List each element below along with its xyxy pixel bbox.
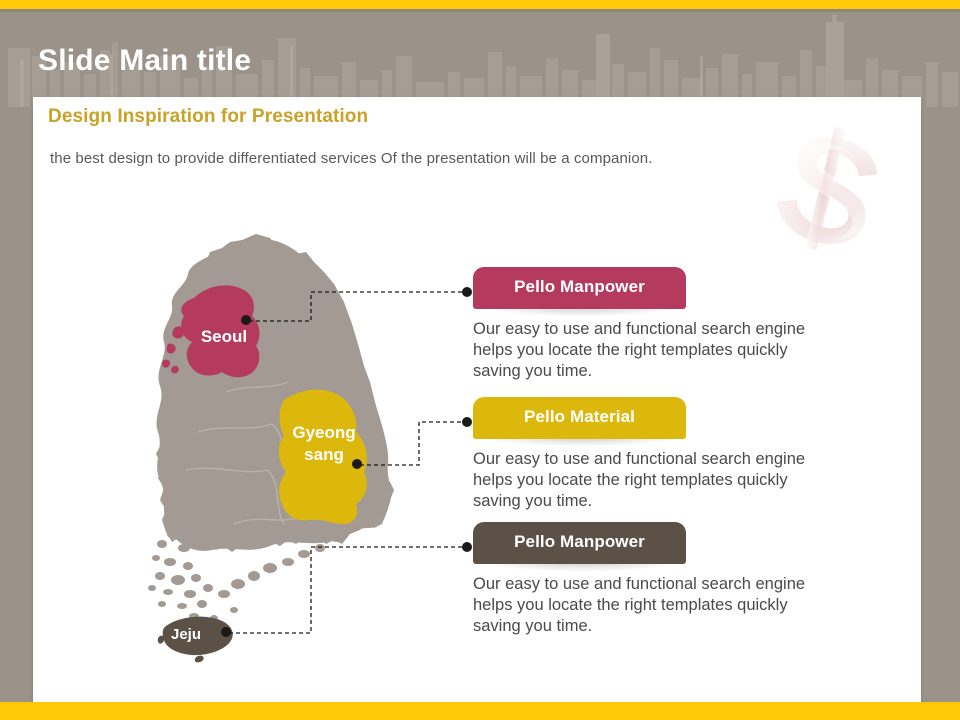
bottom-accent-bar [0, 702, 960, 720]
map-label-gyeongsang-line1: Gyeong [292, 423, 355, 442]
body-line-3c: saving you time. [473, 616, 858, 637]
south-korea-map: Seoul Gyeong sang Jeju [138, 232, 428, 672]
body-line-2c: saving you time. [473, 491, 858, 512]
body-line-3b: helps you locate the right templates qui… [473, 595, 858, 616]
map-label-jeju: Jeju [171, 626, 201, 643]
top-accent-bar-shadow [0, 9, 960, 12]
slide-root: Slide Main title Design Inspiration for … [0, 0, 960, 720]
top-accent-bar [0, 0, 960, 9]
tag-wrapper-2: Pello Material [473, 397, 858, 445]
map-label-seoul: Seoul [201, 327, 247, 346]
body-text-3: Our easy to use and functional search en… [473, 574, 858, 637]
map-dot-gyeongsang [352, 459, 362, 469]
info-block-2: Pello Material Our easy to use and funct… [473, 397, 858, 512]
body-line-2a: Our easy to use and functional search en… [473, 449, 858, 470]
tag-label-2: Pello Material [524, 407, 635, 427]
connector-dot-3 [462, 542, 472, 552]
section-subtitle: Design Inspiration for Presentation [48, 106, 368, 128]
map-label-gyeongsang-line2: sang [304, 445, 344, 464]
connector-dot-1 [462, 287, 472, 297]
tag-pello-manpower-1[interactable]: Pello Manpower [473, 267, 686, 309]
map-dot-jeju [221, 627, 231, 637]
body-line-3a: Our easy to use and functional search en… [473, 574, 858, 595]
body-text-2: Our easy to use and functional search en… [473, 449, 858, 512]
tag-wrapper-1: Pello Manpower [473, 267, 858, 315]
body-line-1a: Our easy to use and functional search en… [473, 319, 858, 340]
info-block-1: Pello Manpower Our easy to use and funct… [473, 267, 858, 382]
dollar-sign-icon [753, 125, 913, 255]
body-text-1: Our easy to use and functional search en… [473, 319, 858, 382]
body-line-1c: saving you time. [473, 361, 858, 382]
page-title: Slide Main title [38, 44, 251, 78]
body-line-1b: helps you locate the right templates qui… [473, 340, 858, 361]
tag-pello-manpower-2[interactable]: Pello Manpower [473, 522, 686, 564]
tag-label-1: Pello Manpower [514, 277, 645, 297]
tag-wrapper-3: Pello Manpower [473, 522, 858, 570]
info-block-3: Pello Manpower Our easy to use and funct… [473, 522, 858, 637]
lead-paragraph: the best design to provide differentiate… [50, 150, 653, 167]
tag-label-3: Pello Manpower [514, 532, 645, 552]
content-panel: Design Inspiration for Presentation the … [33, 97, 921, 703]
connector-dot-2 [462, 417, 472, 427]
body-line-2b: helps you locate the right templates qui… [473, 470, 858, 491]
tag-pello-material[interactable]: Pello Material [473, 397, 686, 439]
map-dot-seoul [241, 315, 251, 325]
